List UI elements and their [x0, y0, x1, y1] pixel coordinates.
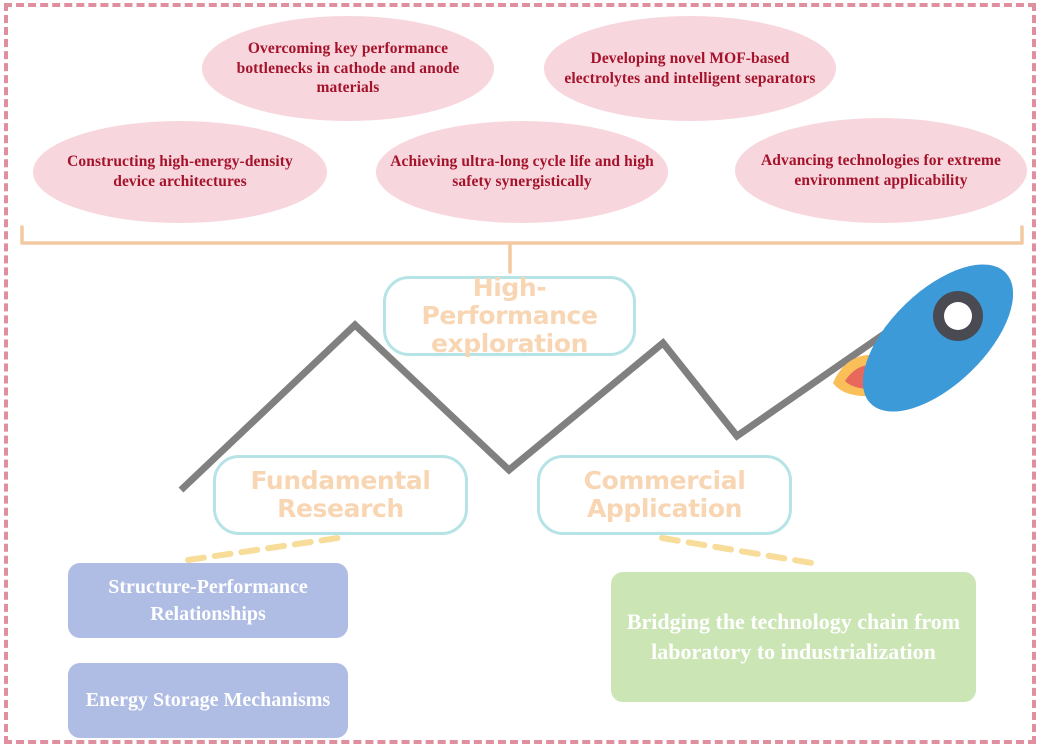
outcome-card-technology-chain[interactable]: Bridging the technology chain from labor… — [611, 572, 976, 702]
outcome-card-label: Energy Storage Mechanisms — [76, 687, 340, 713]
dashed-link-commercial — [662, 538, 812, 563]
stage-box-label: Commercial Application — [540, 467, 789, 523]
stage-box-fundamental-research[interactable]: Fundamental Research — [213, 455, 468, 535]
stage-box-label: High-Performance exploration — [386, 274, 633, 358]
stage-box-commercial-application[interactable]: Commercial Application — [537, 455, 792, 535]
stage-box-high-performance[interactable]: High-Performance exploration — [383, 276, 636, 356]
outcome-card-structure-performance[interactable]: Structure-Performance Relationships — [68, 563, 348, 638]
stage-box-label: Fundamental Research — [216, 467, 465, 523]
diagram-canvas: Overcoming key performance bottlenecks i… — [0, 0, 1044, 749]
outcome-card-energy-storage[interactable]: Energy Storage Mechanisms — [68, 663, 348, 738]
outcome-card-label: Bridging the technology chain from labor… — [611, 607, 976, 668]
dashed-link-fundamental — [188, 538, 338, 560]
outcome-card-label: Structure-Performance Relationships — [68, 574, 348, 627]
